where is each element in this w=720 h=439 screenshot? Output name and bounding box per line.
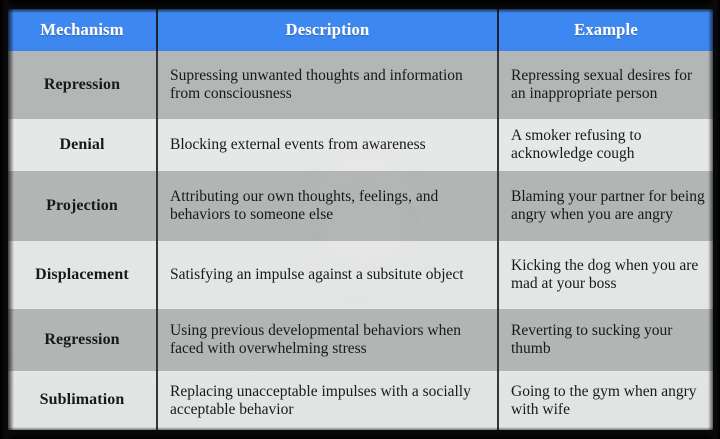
cell-example: Going to the gym when angry with wife: [498, 371, 713, 430]
cell-mechanism: Sublimation: [8, 371, 157, 430]
cell-mechanism: Repression: [8, 51, 157, 119]
cell-description: Attributing our own thoughts, feelings, …: [157, 171, 498, 241]
cell-mechanism: Displacement: [8, 241, 157, 309]
column-header-example: Example: [498, 9, 713, 51]
table-row: Repression Supressing unwanted thoughts …: [8, 51, 713, 119]
table-row: Projection Attributing our own thoughts,…: [8, 171, 713, 241]
cell-description: Satisfying an impulse against a subsitut…: [157, 241, 498, 309]
table-header: Mechanism Description Example: [8, 9, 713, 51]
table-container: Changing life Wellness Compassion Balanc…: [8, 9, 713, 430]
table-body: Repression Supressing unwanted thoughts …: [8, 51, 713, 430]
cell-example: Blaming your partner for being angry whe…: [498, 171, 713, 241]
cell-description: Using previous developmental behaviors w…: [157, 309, 498, 371]
table-row: Denial Blocking external events from awa…: [8, 119, 713, 171]
cell-mechanism: Projection: [8, 171, 157, 241]
table-row: Regression Using previous developmental …: [8, 309, 713, 371]
column-header-mechanism: Mechanism: [8, 9, 157, 51]
cell-description: Blocking external events from awareness: [157, 119, 498, 171]
cell-description: Replacing unacceptable impulses with a s…: [157, 371, 498, 430]
cell-mechanism: Regression: [8, 309, 157, 371]
screenshot-root: Changing life Wellness Compassion Balanc…: [0, 0, 720, 439]
header-row: Mechanism Description Example: [8, 9, 713, 51]
cell-mechanism: Denial: [8, 119, 157, 171]
table-row: Sublimation Replacing unacceptable impul…: [8, 371, 713, 430]
cell-description: Supressing unwanted thoughts and informa…: [157, 51, 498, 119]
cell-example: Repressing sexual desires for an inappro…: [498, 51, 713, 119]
cell-example: Kicking the dog when you are mad at your…: [498, 241, 713, 309]
cell-example: A smoker refusing to acknowledge cough: [498, 119, 713, 171]
defense-mechanisms-table: Mechanism Description Example Repression…: [8, 9, 713, 430]
table-row: Displacement Satisfying an impulse again…: [8, 241, 713, 309]
column-header-description: Description: [157, 9, 498, 51]
cell-example: Reverting to sucking your thumb: [498, 309, 713, 371]
